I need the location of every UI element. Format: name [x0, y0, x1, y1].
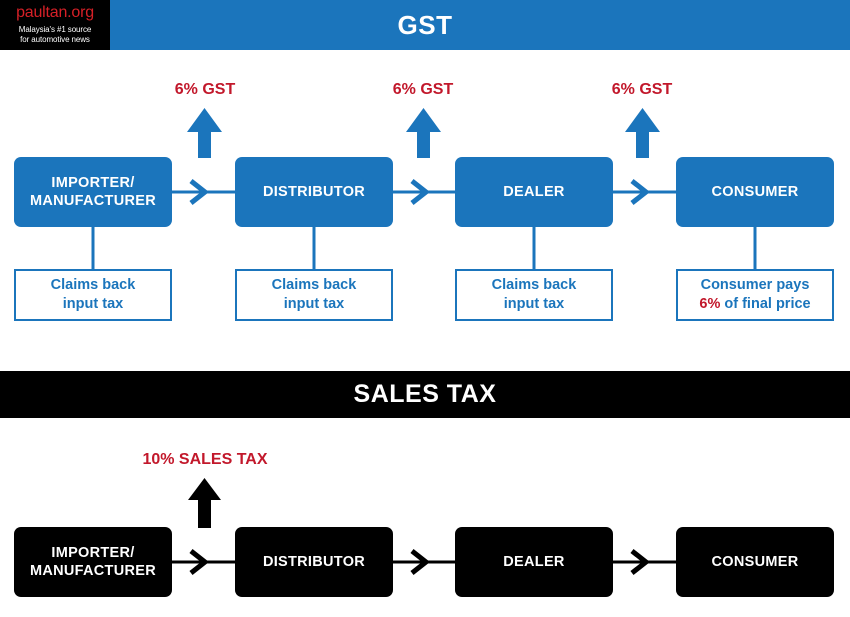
- gst-note-consumer-pays: Consumer pays 6% of final price: [676, 269, 834, 321]
- gst-note-claims-back-2: Claims back input tax: [235, 269, 393, 321]
- gst-tax-label-3: 6% GST: [577, 81, 707, 99]
- gst-note-2-line1: Claims back: [272, 277, 357, 293]
- gst-node-3-line1: DEALER: [503, 183, 564, 201]
- gst-banner-title: GST: [0, 0, 850, 50]
- gst-node-1-line1: IMPORTER/: [51, 175, 134, 191]
- gst-note-claims-back-3: Claims back input tax: [455, 269, 613, 321]
- salestax-node-1-line1: IMPORTER/: [51, 545, 134, 561]
- salestax-flow-arrow-1: [172, 551, 235, 573]
- gst-up-arrow-1: [187, 108, 222, 158]
- gst-note-claims-back-1: Claims back input tax: [14, 269, 172, 321]
- gst-node-importer-manufacturer[interactable]: IMPORTER/ MANUFACTURER: [14, 157, 172, 227]
- sales-tax-banner-title: SALES TAX: [0, 371, 850, 418]
- gst-flow-arrow-2: [393, 181, 455, 203]
- sales-tax-banner: SALES TAX: [0, 371, 850, 418]
- logo-tagline-line2: for automotive news: [0, 35, 110, 44]
- gst-node-4-line1: CONSUMER: [712, 183, 799, 201]
- salestax-node-1-line2: MANUFACTURER: [30, 563, 156, 579]
- gst-note-4-line1: Consumer pays: [701, 277, 810, 293]
- salestax-node-4-line1: CONSUMER: [712, 553, 799, 571]
- gst-node-distributor[interactable]: DISTRIBUTOR: [235, 157, 393, 227]
- gst-node-2-line1: DISTRIBUTOR: [263, 183, 365, 201]
- salestax-node-importer-manufacturer[interactable]: IMPORTER/ MANUFACTURER: [14, 527, 172, 597]
- gst-flow-arrow-1: [172, 181, 235, 203]
- gst-note-4-highlight: 6%: [699, 296, 720, 312]
- gst-node-dealer[interactable]: DEALER: [455, 157, 613, 227]
- gst-node-1-line2: MANUFACTURER: [30, 193, 156, 209]
- gst-note-4-line2: of final price: [724, 296, 810, 312]
- salestax-up-arrow-1: [188, 478, 221, 528]
- salestax-node-3-line1: DEALER: [503, 553, 564, 571]
- gst-tax-label-1: 6% GST: [140, 81, 270, 99]
- logo-tagline-line1: Malaysia's #1 source: [0, 25, 110, 34]
- salestax-node-consumer[interactable]: CONSUMER: [676, 527, 834, 597]
- gst-note-1-line1: Claims back: [51, 277, 136, 293]
- gst-up-arrow-3: [625, 108, 660, 158]
- logo-wordmark: paultan.org: [0, 4, 110, 22]
- gst-node-consumer[interactable]: CONSUMER: [676, 157, 834, 227]
- salestax-node-distributor[interactable]: DISTRIBUTOR: [235, 527, 393, 597]
- gst-note-2-line2: input tax: [284, 296, 344, 312]
- gst-note-3-line1: Claims back: [492, 277, 577, 293]
- salestax-flow-arrow-3: [613, 551, 676, 573]
- gst-note-3-line2: input tax: [504, 296, 564, 312]
- salestax-node-dealer[interactable]: DEALER: [455, 527, 613, 597]
- gst-banner: GST: [0, 0, 850, 50]
- gst-up-arrow-2: [406, 108, 441, 158]
- paultan-logo: paultan.org Malaysia's #1 source for aut…: [0, 0, 110, 50]
- gst-note-1-line2: input tax: [63, 296, 123, 312]
- gst-tax-label-2: 6% GST: [358, 81, 488, 99]
- salestax-node-2-line1: DISTRIBUTOR: [263, 553, 365, 571]
- gst-flow-arrow-3: [613, 181, 676, 203]
- salestax-flow-arrow-2: [393, 551, 455, 573]
- infographic-canvas: GST paultan.org Malaysia's #1 source for…: [0, 0, 850, 617]
- sales-tax-label-1: 10% SALES TAX: [125, 451, 285, 469]
